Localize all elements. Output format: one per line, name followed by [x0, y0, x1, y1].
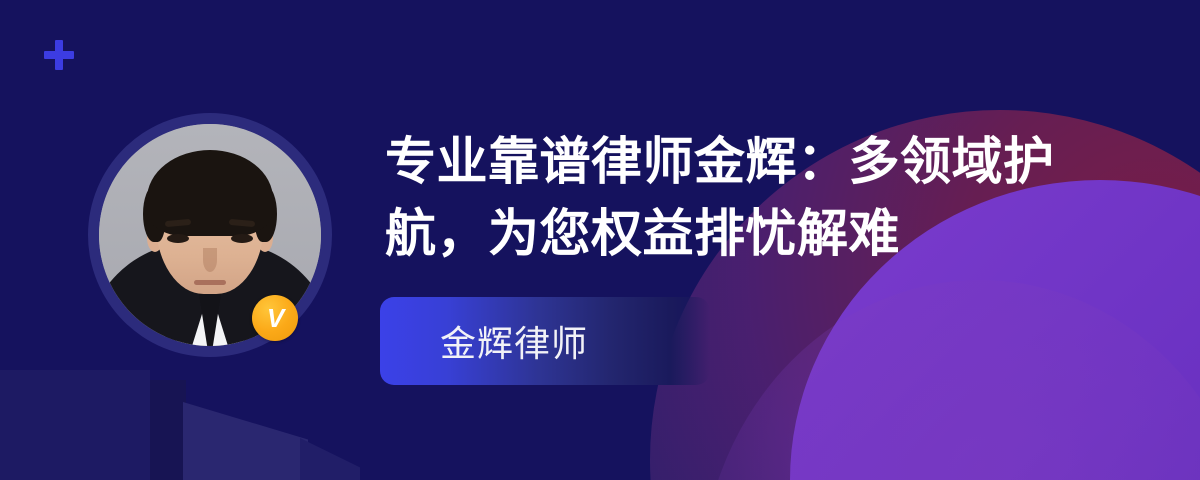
avatar[interactable]: V — [88, 113, 332, 357]
decorative-band-left — [0, 370, 150, 480]
page-title: 专业靠谱律师金辉：多领域护航，为您权益排忧解难 — [385, 126, 1085, 271]
verified-badge-glyph: V — [267, 305, 283, 331]
name-badge[interactable]: 金辉律师 — [380, 297, 710, 385]
verified-badge: V — [252, 295, 298, 341]
plus-icon — [44, 40, 74, 70]
decorative-band-left-2 — [150, 380, 186, 480]
name-badge-label: 金辉律师 — [380, 315, 588, 367]
lawyer-promo-banner: V 专业靠谱律师金辉：多领域护航，为您权益排忧解难 金辉律师 — [0, 0, 1200, 480]
